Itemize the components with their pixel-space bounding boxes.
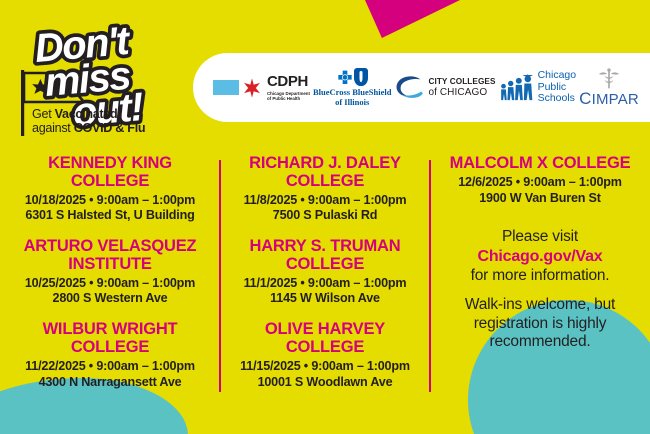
- partner-logo-bar: CDPH Chicago Department of Public Health…: [193, 53, 650, 122]
- cdph-blue-bar-icon: [213, 80, 239, 95]
- event-columns: KENNEDY KING COLLEGE 10/18/2025 • 9:00am…: [0, 155, 650, 395]
- cimpar-rest: IMPAR: [592, 91, 639, 108]
- event-entry: KENNEDY KING COLLEGE 10/18/2025 • 9:00am…: [12, 155, 208, 224]
- info-line-more-information: for more information.: [442, 267, 638, 286]
- tagline-line1-bold: Vaccinated: [55, 107, 118, 121]
- caduceus-icon: [596, 68, 622, 90]
- event-name-line1: ARTURO VELASQUEZ: [12, 238, 208, 256]
- event-entry: WILBUR WRIGHT COLLEGE 11/22/2025 • 9:00a…: [12, 321, 208, 390]
- event-entry: HARRY S. TRUMAN COLLEGE 11/1/2025 • 9:00…: [230, 238, 420, 307]
- info-note-line1: Walk-ins welcome, but: [442, 296, 638, 315]
- event-datetime: 10/18/2025 • 9:00am – 1:00pm: [12, 193, 208, 209]
- event-address: 1900 W Van Buren St: [442, 191, 638, 207]
- info-note-line2: registration is highly: [442, 315, 638, 334]
- tagline-line2-bold: COVID & Flu: [74, 121, 146, 135]
- event-datetime: 11/22/2025 • 9:00am – 1:00pm: [12, 359, 208, 375]
- event-entry: MALCOLM X COLLEGE 12/6/2025 • 9:00am – 1…: [442, 155, 638, 206]
- event-entry: RICHARD J. DALEY COLLEGE 11/8/2025 • 9:0…: [230, 155, 420, 224]
- tagline-line2-plain: against: [32, 121, 74, 135]
- ccc-line2: of CHICAGO: [428, 87, 495, 98]
- tagline-line1-plain: Get: [32, 107, 55, 121]
- pink-triangle-decoration: [360, 0, 464, 38]
- cps-line1: Chicago: [538, 70, 577, 82]
- event-address: 2800 S Western Ave: [12, 291, 208, 307]
- event-name-line1: OLIVE HARVEY: [230, 321, 420, 339]
- event-datetime: 10/25/2025 • 9:00am – 1:00pm: [12, 276, 208, 292]
- event-name-line1: WILBUR WRIGHT: [12, 321, 208, 339]
- cimpar-initial: C: [579, 89, 591, 108]
- city-colleges-swoosh-icon: [394, 75, 424, 101]
- event-address: 1145 W Wilson Ave: [230, 291, 420, 307]
- cps-line3: Schools: [538, 93, 577, 105]
- cps-students-icon: [499, 73, 535, 103]
- event-entry: ARTURO VELASQUEZ INSTITUTE 10/25/2025 • …: [12, 238, 208, 307]
- logo-cdph: CDPH Chicago Department of Public Health: [213, 74, 310, 102]
- logo-chicago-public-schools: Chicago Public Schools: [499, 70, 577, 105]
- event-address: 6301 S Halsted St, U Building: [12, 208, 208, 224]
- event-datetime: 11/15/2025 • 9:00am – 1:00pm: [230, 359, 420, 375]
- blue-cross-icon: [337, 70, 353, 86]
- ccc-line1: CITY COLLEGES: [428, 77, 495, 86]
- info-line-please-visit: Please visit: [442, 228, 638, 247]
- event-name-line2: COLLEGE: [230, 256, 420, 274]
- cdph-subtitle-line2: of Public Health: [267, 96, 310, 102]
- event-entry: OLIVE HARVEY COLLEGE 11/15/2025 • 9:00am…: [230, 321, 420, 390]
- event-name-line1: MALCOLM X COLLEGE: [442, 155, 638, 173]
- vaccination-event-poster: CHI Don't miss out! Get Vaccinated again…: [0, 0, 650, 434]
- event-name-line1: KENNEDY KING: [12, 155, 208, 173]
- chicago-six-point-star-icon: [242, 78, 262, 98]
- event-name-line2: COLLEGE: [230, 173, 420, 191]
- event-datetime: 11/8/2025 • 9:00am – 1:00pm: [230, 193, 420, 209]
- event-name-line2: COLLEGE: [230, 339, 420, 357]
- logo-cimpar: CIMPAR: [579, 68, 639, 107]
- event-address: 10001 S Woodlawn Ave: [230, 375, 420, 391]
- event-column-2: RICHARD J. DALEY COLLEGE 11/8/2025 • 9:0…: [220, 155, 430, 395]
- info-note-line3: recommended.: [442, 333, 638, 352]
- logo-bluecross-blueshield: BlueCross BlueShield of Illinois: [313, 68, 392, 108]
- event-address: 4300 N Narragansett Ave: [12, 375, 208, 391]
- info-block: Please visit Chicago.gov/Vax for more in…: [442, 228, 638, 352]
- event-datetime: 12/6/2025 • 9:00am – 1:00pm: [442, 175, 638, 191]
- event-column-3: MALCOLM X COLLEGE 12/6/2025 • 9:00am – 1…: [430, 155, 650, 395]
- event-name-line1: HARRY S. TRUMAN: [230, 238, 420, 256]
- vaccine-website-url[interactable]: Chicago.gov/Vax: [442, 247, 638, 267]
- event-name-line2: INSTITUTE: [12, 256, 208, 274]
- blue-shield-icon: [354, 68, 368, 86]
- event-name-line2: COLLEGE: [12, 173, 208, 191]
- headline-lockup: CHI Don't miss out! Get Vaccinated again…: [14, 18, 200, 138]
- bcbs-name-line2: of Illinois: [313, 98, 392, 108]
- event-column-1: KENNEDY KING COLLEGE 10/18/2025 • 9:00am…: [0, 155, 220, 395]
- event-datetime: 11/1/2025 • 9:00am – 1:00pm: [230, 276, 420, 292]
- event-name-line1: RICHARD J. DALEY: [230, 155, 420, 173]
- cdph-acronym: CDPH: [267, 74, 310, 89]
- logo-city-colleges-of-chicago: CITY COLLEGES of CHICAGO: [394, 75, 495, 101]
- event-name-line2: COLLEGE: [12, 339, 208, 357]
- event-address: 7500 S Pulaski Rd: [230, 208, 420, 224]
